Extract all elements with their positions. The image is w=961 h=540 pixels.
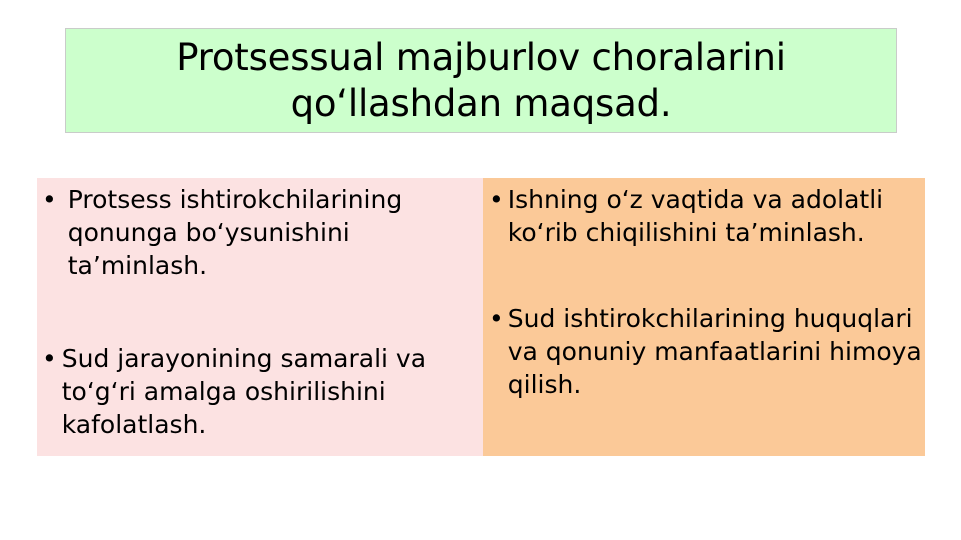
column-spacer bbox=[489, 249, 925, 302]
list-item-label: Sud jarayonining samarali va to‘g‘ri ama… bbox=[62, 342, 482, 441]
list-item: • Ishning o‘z vaqtida va adolatli ko‘rib… bbox=[489, 183, 925, 249]
list-item: • Protsess ishtirokchilarining qonunga b… bbox=[42, 183, 482, 282]
bullet-icon: • bbox=[42, 342, 62, 375]
list-item-label: Ishning o‘z vaqtida va adolatli ko‘rib c… bbox=[508, 183, 925, 249]
list-item: • Sud jarayonining samarali va to‘g‘ri a… bbox=[42, 342, 482, 441]
bullet-icon: • bbox=[489, 302, 508, 335]
bullet-icon: • bbox=[42, 183, 68, 216]
list-item-label: Protsess ishtirokchilarining qonunga bo‘… bbox=[68, 183, 482, 282]
left-column-text: • Protsess ishtirokchilarining qonunga b… bbox=[42, 183, 482, 441]
presentation-slide: Protsessual majburlov choralarini qo‘lla… bbox=[0, 0, 961, 540]
column-spacer bbox=[42, 282, 482, 342]
list-item: • Sud ishtirokchilarining huquqlari va q… bbox=[489, 302, 925, 401]
list-item-label: Sud ishtirokchilarining huquqlari va qon… bbox=[508, 302, 925, 401]
page-title: Protsessual majburlov choralarini qo‘lla… bbox=[101, 35, 861, 125]
slide-title-box: Protsessual majburlov choralarini qo‘lla… bbox=[65, 28, 897, 133]
bullet-icon: • bbox=[489, 183, 508, 216]
right-column-text: • Ishning o‘z vaqtida va adolatli ko‘rib… bbox=[489, 183, 925, 401]
